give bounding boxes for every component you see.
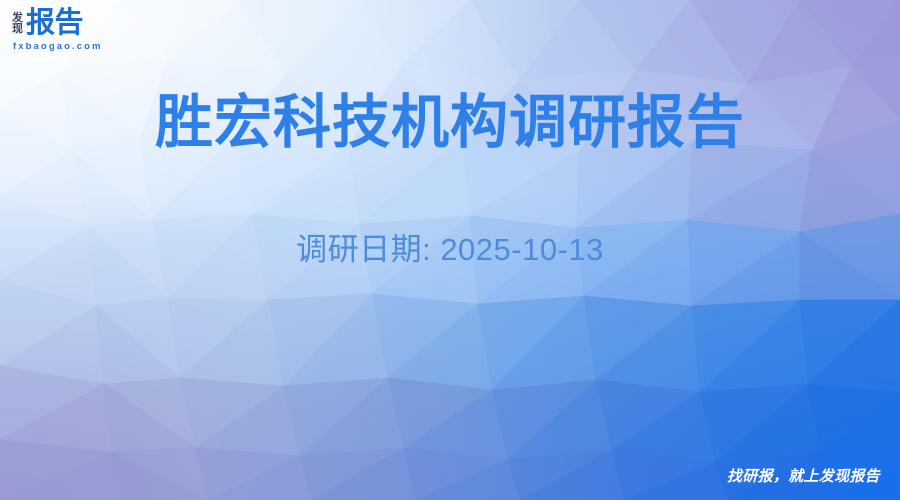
footer-tagline: 找研报，就上发现报告 [727,465,880,486]
logo-url: fxbaogao.com [13,41,103,52]
page-title: 胜宏科技机构调研报告 [0,92,900,155]
report-cover: 发 现 报告 fxbaogao.com 胜宏科技机构调研报告 调研日期: 202… [0,0,900,500]
logo-wordmark: 报告 [26,9,83,38]
logo-wordmark-row: 发 现 报告 [12,9,83,38]
survey-date-subtitle: 调研日期: 2025-10-13 [0,231,900,270]
logo-char-xian: 现 [12,24,23,35]
logo-stacked-characters: 发 现 [12,12,23,36]
site-logo[interactable]: 发 现 报告 fxbaogao.com [12,9,103,52]
